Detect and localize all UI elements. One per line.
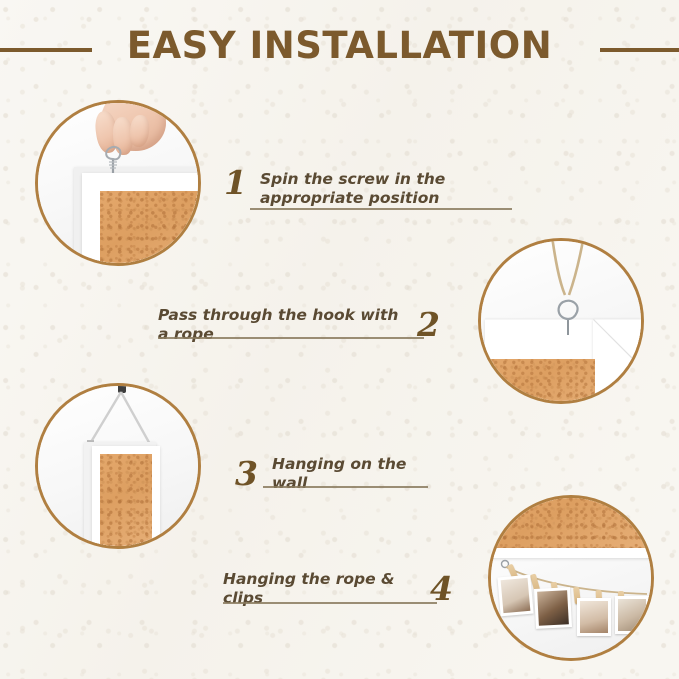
cork-surface [100,454,152,549]
step-3-underline [263,486,428,488]
step-3-number: 3 [235,457,258,490]
page-title: EASY INSTALLATION [0,24,679,67]
step-1-underline [250,208,512,210]
step-3-photo-board-hanging-on-wall [35,383,201,549]
step-1-photo-hand-with-screw-hook [35,100,201,266]
step-4-underline [223,602,437,604]
header: EASY INSTALLATION [0,0,679,92]
screw-hook-icon [98,139,128,175]
step-1-caption: Spin the screw in the appropriate positi… [260,170,514,208]
clipped-photo [577,598,611,636]
clipped-photo [497,575,533,617]
clipped-photo [615,596,649,634]
step-1-caption-group: 1 Spin the screw in the appropriate posi… [224,166,514,208]
step-4-number: 4 [430,572,453,605]
step-1-number: 1 [224,166,247,199]
cork-surface [100,191,201,266]
step-2-photo-rope-through-hook [478,238,644,404]
step-4-photo-rope-with-photo-clips [488,495,654,661]
screw-hook-icon [551,293,585,337]
easy-installation-infographic: EASY INSTALLATION 1 Spin the s [0,0,679,679]
step-2-underline [158,337,424,339]
clipped-photo [534,587,572,629]
